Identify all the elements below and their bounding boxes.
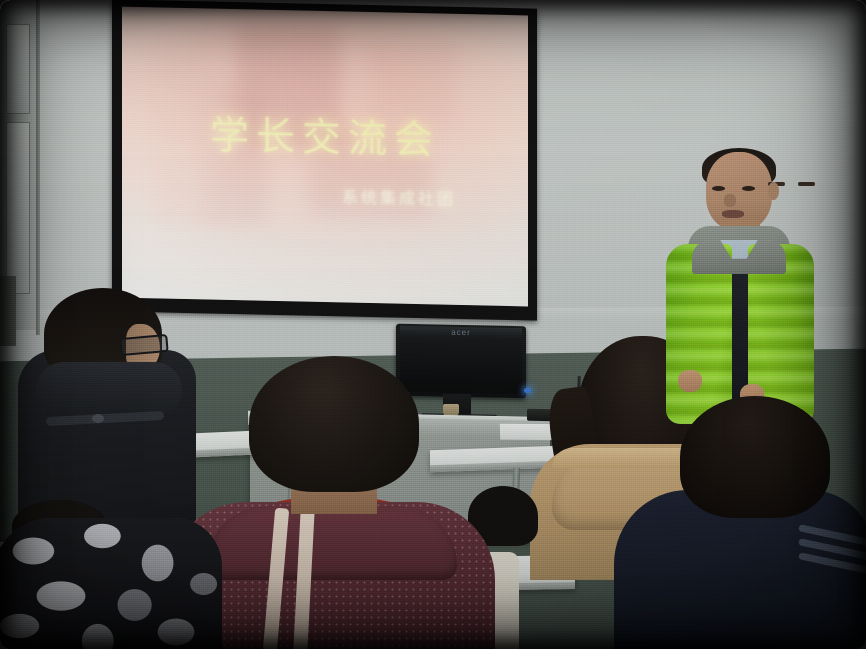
left-hand — [678, 370, 702, 392]
eyebrow — [798, 182, 815, 186]
jacket-snap-button — [92, 414, 104, 423]
eye — [712, 186, 725, 191]
monitor-brand-bar: acer — [400, 326, 522, 339]
hair — [680, 396, 830, 518]
classroom-scene: 学长交流会 系统集成社团 acer — [0, 0, 866, 649]
projection-screen: 学长交流会 系统集成社团 — [112, 0, 537, 321]
hair — [249, 356, 419, 492]
jacket-hood — [36, 362, 182, 418]
nose — [724, 194, 736, 207]
door-glass-pane-upper — [6, 24, 30, 114]
mouth — [722, 210, 744, 218]
vest-hood — [207, 506, 457, 580]
screen-glare — [122, 7, 528, 307]
eye — [742, 186, 755, 191]
student-front-left-camo — [0, 500, 222, 649]
camo-patterned-jacket — [0, 518, 222, 649]
door-edge — [36, 0, 40, 335]
door-glass-pane-lower — [6, 122, 30, 294]
projection-screen-surface: 学长交流会 系统集成社团 — [122, 7, 528, 307]
photo-frame: 学长交流会 系统集成社团 acer — [0, 0, 866, 649]
photograph: 学长交流会 系统集成社团 acer — [0, 0, 866, 649]
monitor-brand-label: acer — [451, 328, 471, 337]
shadow-overlay — [0, 518, 222, 649]
student-far-right-navy — [636, 396, 866, 649]
ear — [768, 182, 779, 200]
head — [706, 152, 772, 230]
